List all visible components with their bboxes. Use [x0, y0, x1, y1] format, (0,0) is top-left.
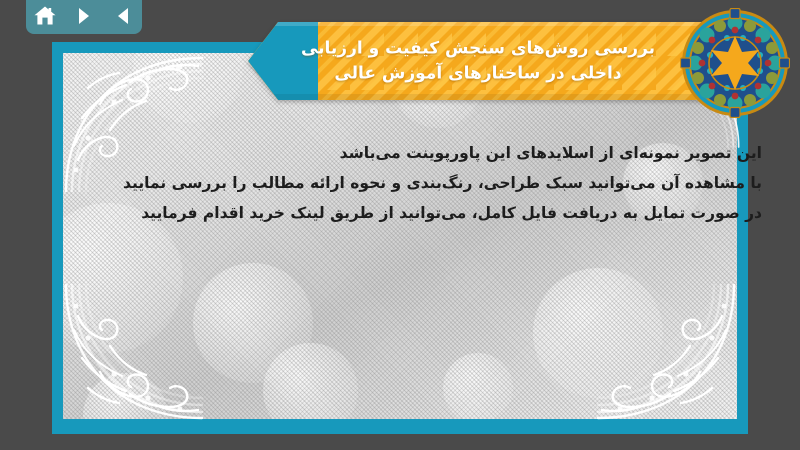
title-banner: بررسی روش‌های سنجش کیفیت و ارزیابی داخلی…: [248, 22, 718, 100]
body-line-2: با مشاهده آن می‌توانید سبک طراحی، رنگ‌بن…: [38, 168, 762, 198]
navigation-bar: [26, 0, 142, 34]
bokeh-circle: [263, 343, 358, 419]
slide-viewer: بررسی روش‌های سنجش کیفیت و ارزیابی داخلی…: [0, 0, 800, 450]
house-icon: [33, 4, 57, 28]
triangle-left-icon: [112, 5, 134, 27]
slide-background: [63, 53, 737, 419]
triangle-right-icon: [73, 5, 95, 27]
next-slide-button[interactable]: [71, 3, 97, 29]
body-line-1: این تصویر نمونه‌ای از اسلایدهای این پاور…: [38, 138, 762, 168]
previous-slide-button[interactable]: [110, 3, 136, 29]
home-button[interactable]: [32, 3, 58, 29]
bokeh-circle: [133, 53, 243, 123]
persian-mandala-medallion: [680, 8, 790, 118]
bokeh-circle: [193, 263, 313, 383]
banner-title-line2: داخلی در ساختارهای آموزش عالی: [284, 61, 672, 86]
body-line-3: در صورت تمایل به دریافت فایل کامل، می‌تو…: [38, 198, 762, 228]
banner-title: بررسی روش‌های سنجش کیفیت و ارزیابی داخلی…: [284, 36, 672, 85]
bokeh-circle: [533, 268, 663, 398]
slide-body-text: این تصویر نمونه‌ای از اسلایدهای این پاور…: [38, 138, 762, 229]
bokeh-circle: [443, 353, 513, 419]
banner-title-line1: بررسی روش‌های سنجش کیفیت و ارزیابی: [284, 36, 672, 61]
bokeh-circle: [83, 373, 168, 419]
slide-canvas: [52, 42, 748, 434]
